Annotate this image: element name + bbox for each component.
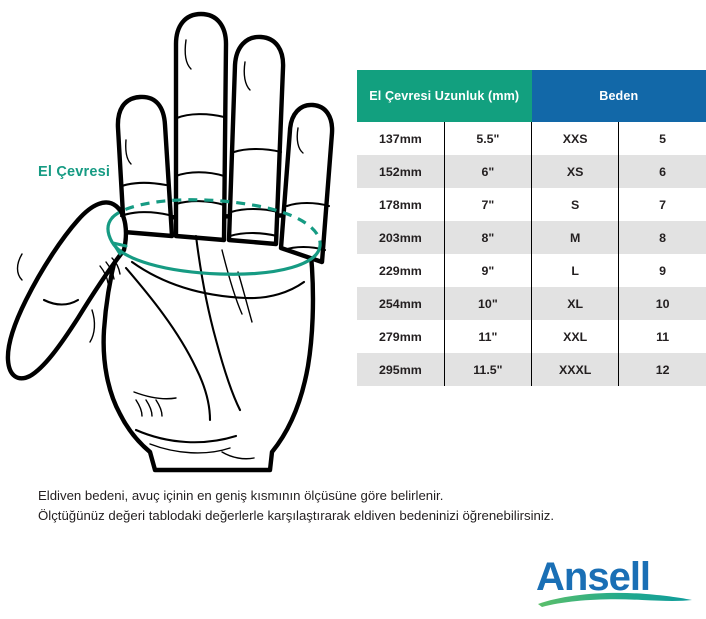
cell-inch: 10" bbox=[444, 287, 531, 320]
cell-size: L bbox=[532, 254, 619, 287]
thumb-side-crease bbox=[90, 310, 94, 342]
cell-num: 12 bbox=[619, 353, 706, 386]
caption-line-2: Ölçtüğünüz değeri tablodaki değerlerle k… bbox=[38, 506, 678, 526]
ansell-logo: Ansell bbox=[536, 556, 696, 612]
cell-inch: 7" bbox=[444, 188, 531, 221]
cell-inch: 6" bbox=[444, 155, 531, 188]
cell-mm: 254mm bbox=[357, 287, 444, 320]
header-size: Beden bbox=[532, 70, 706, 122]
cell-size: XL bbox=[532, 287, 619, 320]
cell-size: S bbox=[532, 188, 619, 221]
table-row: 229mm 9" L 9 bbox=[357, 254, 706, 287]
cell-size: M bbox=[532, 221, 619, 254]
cell-num: 10 bbox=[619, 287, 706, 320]
cell-num: 6 bbox=[619, 155, 706, 188]
ring-finger bbox=[229, 37, 283, 244]
little-finger bbox=[281, 105, 332, 262]
cell-size: XS bbox=[532, 155, 619, 188]
cell-mm: 137mm bbox=[357, 122, 444, 155]
cell-inch: 9" bbox=[444, 254, 531, 287]
cell-size: XXL bbox=[532, 320, 619, 353]
caption-text: Eldiven bedeni, avuç içinin en geniş kıs… bbox=[38, 486, 678, 526]
cell-mm: 229mm bbox=[357, 254, 444, 287]
cell-inch: 11" bbox=[444, 320, 531, 353]
cell-num: 5 bbox=[619, 122, 706, 155]
cell-num: 7 bbox=[619, 188, 706, 221]
cell-mm: 203mm bbox=[357, 221, 444, 254]
cell-mm: 295mm bbox=[357, 353, 444, 386]
header-circumference: El Çevresi Uzunluk (mm) bbox=[357, 70, 532, 122]
cell-inch: 8" bbox=[444, 221, 531, 254]
table-row: 137mm 5.5" XXS 5 bbox=[357, 122, 706, 155]
thumb-nail bbox=[18, 254, 23, 280]
ansell-wordmark: Ansell bbox=[536, 556, 650, 599]
cell-mm: 152mm bbox=[357, 155, 444, 188]
hand-diagram: El Çevresi bbox=[0, 0, 350, 480]
cell-inch: 11.5" bbox=[444, 353, 531, 386]
table-row: 178mm 7" S 7 bbox=[357, 188, 706, 221]
hand-circumference-label: El Çevresi bbox=[38, 164, 110, 180]
cell-num: 8 bbox=[619, 221, 706, 254]
cell-num: 9 bbox=[619, 254, 706, 287]
table-row: 295mm 11.5" XXXL 12 bbox=[357, 353, 706, 386]
cell-size: XXXL bbox=[532, 353, 619, 386]
cell-size: XXS bbox=[532, 122, 619, 155]
cell-inch: 5.5" bbox=[444, 122, 531, 155]
table-body: 137mm 5.5" XXS 5 152mm 6" XS 6 178mm 7" … bbox=[357, 122, 706, 386]
cell-num: 11 bbox=[619, 320, 706, 353]
cell-mm: 178mm bbox=[357, 188, 444, 221]
caption-line-1: Eldiven bedeni, avuç içinin en geniş kıs… bbox=[38, 486, 678, 506]
size-chart-table: El Çevresi Uzunluk (mm) Beden 137mm 5.5"… bbox=[357, 70, 706, 386]
middle-finger bbox=[176, 14, 226, 240]
table-header-row: El Çevresi Uzunluk (mm) Beden bbox=[357, 70, 706, 122]
table-row: 254mm 10" XL 10 bbox=[357, 287, 706, 320]
cell-mm: 279mm bbox=[357, 320, 444, 353]
table-row: 152mm 6" XS 6 bbox=[357, 155, 706, 188]
table-row: 279mm 11" XXL 11 bbox=[357, 320, 706, 353]
table-row: 203mm 8" M 8 bbox=[357, 221, 706, 254]
palm-outline bbox=[104, 215, 313, 470]
